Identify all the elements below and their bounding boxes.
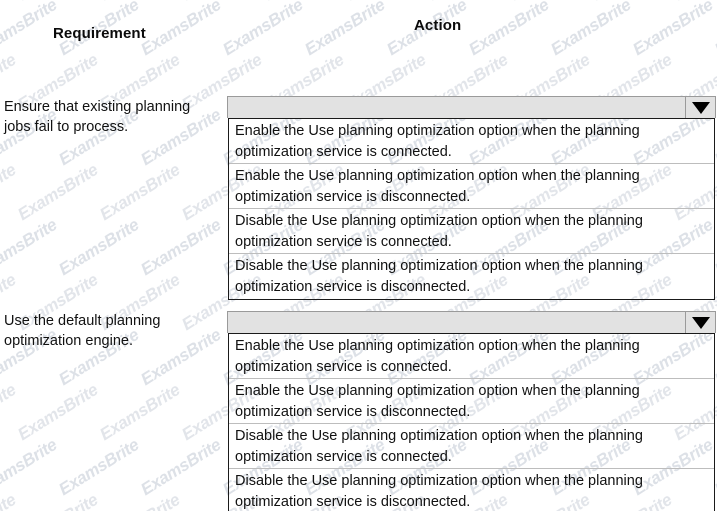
option-text-line: Disable the Use planning optimization op…	[235, 211, 710, 232]
combobox-option[interactable]: Disable the Use planning optimization op…	[229, 424, 714, 469]
watermark-text: ExamsBrite	[424, 0, 504, 5]
option-text-line: optimization service is disconnected.	[235, 402, 710, 423]
watermark-text: ExamsBrite	[670, 0, 717, 5]
watermark-text: ExamsBrite	[0, 0, 13, 5]
action-combobox-1[interactable]: Enable the Use planning optimization opt…	[227, 96, 716, 300]
option-text-line: Disable the Use planning optimization op…	[235, 471, 710, 492]
watermark-text: ExamsBrite	[96, 165, 176, 225]
watermark-text: ExamsBrite	[178, 0, 258, 5]
combobox-option[interactable]: Disable the Use planning optimization op…	[229, 209, 714, 254]
watermark-text: ExamsBrite	[55, 440, 135, 500]
watermark-text: ExamsBrite	[0, 220, 54, 280]
watermark-text: ExamsBrite	[0, 495, 13, 511]
combobox-option-list[interactable]: Enable the Use planning optimization opt…	[228, 118, 715, 300]
watermark-text: ExamsBrite	[0, 440, 54, 500]
requirement-cell: Ensure that existing planning jobs fail …	[4, 97, 222, 137]
chevron-down-glyph	[692, 102, 710, 114]
combobox-option[interactable]: Enable the Use planning optimization opt…	[229, 164, 714, 209]
watermark-text: ExamsBrite	[14, 165, 94, 225]
watermark-text: ExamsBrite	[342, 0, 422, 5]
combobox-option[interactable]: Enable the Use planning optimization opt…	[229, 334, 714, 379]
watermark-text: ExamsBrite	[14, 0, 94, 5]
watermark-text: ExamsBrite	[547, 0, 627, 60]
watermark-text: ExamsBrite	[137, 440, 217, 500]
watermark-text: ExamsBrite	[55, 220, 135, 280]
combobox-option[interactable]: Enable the Use planning optimization opt…	[229, 379, 714, 424]
chevron-down-icon[interactable]	[685, 312, 715, 333]
watermark-text: ExamsBrite	[260, 0, 340, 5]
watermark-text: ExamsBrite	[506, 0, 586, 5]
watermark-text: ExamsBrite	[137, 0, 217, 60]
watermark-text: ExamsBrite	[629, 0, 709, 60]
option-text-line: optimization service is connected.	[235, 232, 710, 253]
question-canvas: ExamsBriteExamsBriteExamsBriteExamsBrite…	[0, 0, 717, 511]
option-text-line: Disable the Use planning optimization op…	[235, 256, 710, 277]
requirement-cell: Use the default planning optimization en…	[4, 311, 222, 351]
watermark-text: ExamsBrite	[137, 220, 217, 280]
combobox-option[interactable]: Disable the Use planning optimization op…	[229, 254, 714, 299]
requirement-text-line: Ensure that existing planning	[4, 97, 222, 117]
combobox-selected-value[interactable]	[228, 312, 685, 333]
watermark-text: ExamsBrite	[219, 0, 299, 60]
option-text-line: Enable the Use planning optimization opt…	[235, 166, 710, 187]
option-text-line: optimization service is disconnected.	[235, 492, 710, 511]
option-text-line: Enable the Use planning optimization opt…	[235, 336, 710, 357]
watermark-text: ExamsBrite	[0, 385, 13, 445]
watermark-row: ExamsBriteExamsBriteExamsBriteExamsBrite…	[0, 40, 717, 95]
combobox-header[interactable]	[227, 96, 716, 118]
combobox-header[interactable]	[227, 311, 716, 333]
option-text-line: optimization service is disconnected.	[235, 187, 710, 208]
option-text-line: optimization service is connected.	[235, 447, 710, 468]
chevron-down-icon[interactable]	[685, 97, 715, 118]
option-text-line: optimization service is disconnected.	[235, 277, 710, 298]
column-header-requirement: Requirement	[53, 25, 146, 42]
action-combobox-2[interactable]: Enable the Use planning optimization opt…	[227, 311, 716, 511]
watermark-text: ExamsBrite	[96, 0, 176, 5]
watermark-text: ExamsBrite	[14, 385, 94, 445]
option-text-line: optimization service is connected.	[235, 357, 710, 378]
option-text-line: Enable the Use planning optimization opt…	[235, 121, 710, 142]
requirement-text-line: Use the default planning	[4, 311, 222, 331]
option-text-line: Disable the Use planning optimization op…	[235, 426, 710, 447]
requirement-text-line: optimization engine.	[4, 331, 222, 351]
combobox-option[interactable]: Disable the Use planning optimization op…	[229, 469, 714, 511]
watermark-text: ExamsBrite	[301, 0, 381, 60]
watermark-text: ExamsBrite	[96, 385, 176, 445]
requirement-text-line: jobs fail to process.	[4, 117, 222, 137]
watermark-text: ExamsBrite	[96, 495, 176, 511]
watermark-text: ExamsBrite	[0, 0, 54, 60]
watermark-text: ExamsBrite	[0, 165, 13, 225]
combobox-selected-value[interactable]	[228, 97, 685, 118]
watermark-text: ExamsBrite	[588, 0, 668, 5]
watermark-text: ExamsBrite	[14, 495, 94, 511]
option-text-line: Enable the Use planning optimization opt…	[235, 381, 710, 402]
watermark-text: ExamsBrite	[465, 0, 545, 60]
combobox-option-list[interactable]: Enable the Use planning optimization opt…	[228, 333, 715, 511]
watermark-text: ExamsBrite	[711, 0, 717, 60]
chevron-down-glyph	[692, 317, 710, 329]
combobox-option[interactable]: Enable the Use planning optimization opt…	[229, 119, 714, 164]
column-header-action: Action	[414, 17, 461, 34]
option-text-line: optimization service is connected.	[235, 142, 710, 163]
